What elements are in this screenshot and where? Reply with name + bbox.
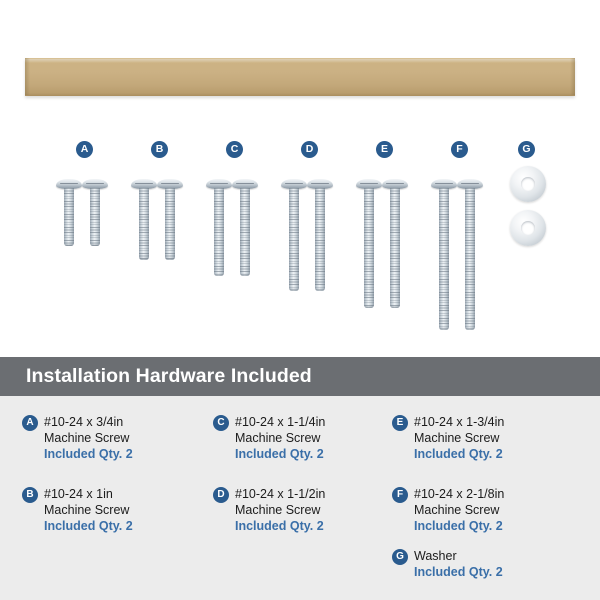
hardware-list-item-f: F#10-24 x 2-1/8inMachine ScrewIncluded Q…: [392, 486, 567, 534]
screw-shaft: [315, 188, 325, 291]
hardware-list-item-d: D#10-24 x 1-1/2inMachine ScrewIncluded Q…: [213, 486, 388, 534]
hardware-badge-d: D: [213, 487, 229, 503]
product-illustration-area: ABCDEFG: [0, 0, 600, 355]
page-title: Installation Hardware Included: [26, 365, 312, 388]
hardware-qty-text: Included Qty. 2: [235, 518, 388, 534]
hardware-list-panel: A#10-24 x 3/4inMachine ScrewIncluded Qty…: [0, 396, 600, 600]
hardware-type-text: Machine Screw: [235, 430, 388, 446]
hardware-type-text: Machine Screw: [414, 430, 567, 446]
diagram-badge-c: C: [226, 141, 243, 158]
diagram-badge-b: B: [151, 141, 168, 158]
hardware-type-text: Machine Screw: [235, 502, 388, 518]
hardware-qty-text: Included Qty. 2: [414, 518, 567, 534]
hardware-list-item-c: C#10-24 x 1-1/4inMachine ScrewIncluded Q…: [213, 414, 388, 462]
hardware-spec-text: #10-24 x 1-3/4in: [414, 414, 567, 430]
bar-pull-product-image: [25, 58, 575, 96]
screw-shaft: [139, 188, 149, 260]
hardware-qty-text: Included Qty. 2: [235, 446, 388, 462]
diagram-badge-d: D: [301, 141, 318, 158]
screw-shaft: [289, 188, 299, 291]
installation-hardware-header: Installation Hardware Included: [0, 357, 600, 396]
screw-shaft: [214, 188, 224, 276]
hardware-badge-a: A: [22, 415, 38, 431]
hardware-spec-text: #10-24 x 1in: [44, 486, 197, 502]
hardware-type-text: Machine Screw: [414, 502, 567, 518]
hardware-qty-text: Included Qty. 2: [44, 446, 197, 462]
hardware-list-item-g: GWasherIncluded Qty. 2: [392, 548, 567, 580]
hardware-qty-text: Included Qty. 2: [414, 446, 567, 462]
washer-icon-2: [510, 210, 546, 246]
hardware-spec-text: #10-24 x 3/4in: [44, 414, 197, 430]
hardware-spec-text: #10-24 x 1-1/4in: [235, 414, 388, 430]
screw-shaft: [439, 188, 449, 330]
screw-shaft: [90, 188, 100, 246]
bar-pull-right-endcap: [570, 58, 575, 95]
hardware-badge-e: E: [392, 415, 408, 431]
hardware-spec-text: #10-24 x 2-1/8in: [414, 486, 567, 502]
bar-pull-left-endcap: [25, 58, 30, 95]
hardware-spec-text: Washer: [414, 548, 567, 564]
hardware-badge-c: C: [213, 415, 229, 431]
screw-shaft: [165, 188, 175, 260]
hardware-badge-b: B: [22, 487, 38, 503]
diagram-badge-a: A: [76, 141, 93, 158]
hardware-type-text: Machine Screw: [44, 502, 197, 518]
hardware-qty-text: Included Qty. 2: [44, 518, 197, 534]
washer-icon-1: [510, 166, 546, 202]
hardware-type-text: Machine Screw: [44, 430, 197, 446]
hardware-list-item-e: E#10-24 x 1-3/4inMachine ScrewIncluded Q…: [392, 414, 567, 462]
diagram-badge-e: E: [376, 141, 393, 158]
hardware-qty-text: Included Qty. 2: [414, 564, 567, 580]
screw-shaft: [390, 188, 400, 308]
hardware-badge-f: F: [392, 487, 408, 503]
screw-shaft: [364, 188, 374, 308]
diagram-badge-g: G: [518, 141, 535, 158]
screw-shaft: [64, 188, 74, 246]
diagram-badge-f: F: [451, 141, 468, 158]
hardware-list-item-b: B#10-24 x 1inMachine ScrewIncluded Qty. …: [22, 486, 197, 534]
hardware-badge-g: G: [392, 549, 408, 565]
hardware-spec-text: #10-24 x 1-1/2in: [235, 486, 388, 502]
screw-shaft: [240, 188, 250, 276]
hardware-list-item-a: A#10-24 x 3/4inMachine ScrewIncluded Qty…: [22, 414, 197, 462]
screw-shaft: [465, 188, 475, 330]
